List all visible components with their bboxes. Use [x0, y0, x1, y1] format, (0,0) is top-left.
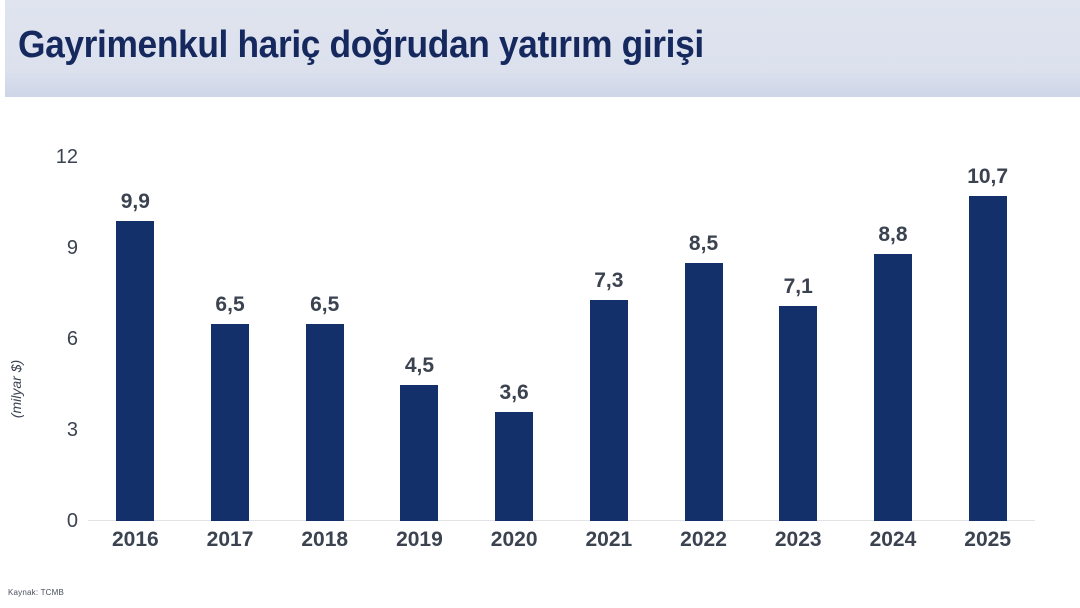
- bar-group: 8,82024: [846, 157, 941, 521]
- bar-chart: (milyar $) 036912 9,920166,520176,520184…: [0, 97, 1080, 608]
- y-axis-tick-label: 12: [32, 147, 78, 167]
- x-axis-label-2022: 2022: [680, 529, 727, 550]
- bar-group: 4,52019: [372, 157, 467, 521]
- page-title: Gayrimenkul hariç doğrudan yatırım giriş…: [18, 24, 704, 67]
- x-axis-label-2024: 2024: [870, 529, 917, 550]
- bar-value-label: 7,1: [784, 276, 813, 297]
- bar-2018[interactable]: [306, 324, 344, 521]
- bar-value-label: 4,5: [405, 355, 434, 376]
- bar-2017[interactable]: [211, 324, 249, 521]
- bar-value-label: 10,7: [967, 166, 1008, 187]
- bar-2022[interactable]: [685, 263, 723, 521]
- bar-2023[interactable]: [779, 306, 817, 521]
- bar-2019[interactable]: [400, 385, 438, 522]
- bar-value-label: 9,9: [121, 191, 150, 212]
- plot-area: 9,920166,520176,520184,520193,620207,320…: [88, 157, 1035, 521]
- bar-value-label: 6,5: [215, 294, 244, 315]
- bar-group: 10,72025: [940, 157, 1035, 521]
- y-axis-tick-label: 3: [32, 420, 78, 440]
- bar-group: 6,52018: [277, 157, 372, 521]
- bar-2016[interactable]: [116, 221, 154, 521]
- bar-group: 7,12023: [751, 157, 846, 521]
- bar-group: 8,52022: [656, 157, 751, 521]
- bar-2020[interactable]: [495, 412, 533, 521]
- bar-group: 9,92016: [88, 157, 183, 521]
- x-axis-label-2018: 2018: [301, 529, 348, 550]
- bar-group: 6,52017: [183, 157, 278, 521]
- y-axis-tick-label: 6: [32, 329, 78, 349]
- x-axis-label-2025: 2025: [964, 529, 1011, 550]
- title-banner: Gayrimenkul hariç doğrudan yatırım giriş…: [5, 0, 1080, 97]
- y-axis-tick-label: 9: [32, 238, 78, 258]
- x-axis-label-2021: 2021: [585, 529, 632, 550]
- x-axis-label-2017: 2017: [207, 529, 254, 550]
- bar-2025[interactable]: [969, 196, 1007, 521]
- x-axis-label-2019: 2019: [396, 529, 443, 550]
- bar-value-label: 8,5: [689, 233, 718, 254]
- y-axis-tick-label: 0: [32, 511, 78, 531]
- bar-group: 3,62020: [467, 157, 562, 521]
- bar-group: 7,32021: [562, 157, 657, 521]
- bar-value-label: 8,8: [878, 224, 907, 245]
- x-axis-label-2023: 2023: [775, 529, 822, 550]
- bar-2021[interactable]: [590, 300, 628, 521]
- bar-2024[interactable]: [874, 254, 912, 521]
- x-axis-label-2016: 2016: [112, 529, 159, 550]
- source-note: Kaynak: TCMB: [8, 588, 64, 597]
- bar-value-label: 3,6: [500, 382, 529, 403]
- bar-value-label: 6,5: [310, 294, 339, 315]
- y-axis-ticks: 036912: [20, 157, 78, 521]
- bar-value-label: 7,3: [594, 270, 623, 291]
- x-axis-label-2020: 2020: [491, 529, 538, 550]
